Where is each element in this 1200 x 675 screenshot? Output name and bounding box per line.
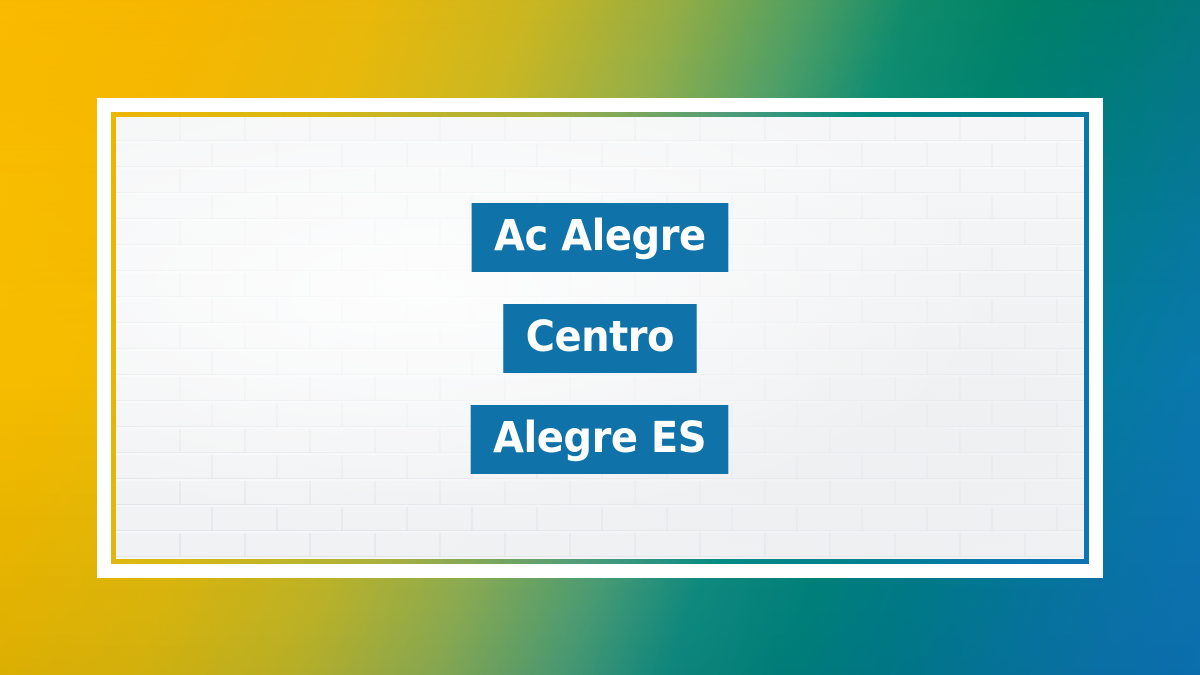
label-box-primary: Ac Alegre xyxy=(472,203,728,272)
poster-canvas: Ac Alegre Centro Alegre ES xyxy=(0,0,1200,675)
brick-wall-surface: Ac Alegre Centro Alegre ES xyxy=(116,117,1084,559)
label-box-tertiary: Alegre ES xyxy=(471,405,729,474)
panel-frame-inner-line: Ac Alegre Centro Alegre ES xyxy=(111,112,1089,564)
label-box-secondary: Centro xyxy=(503,304,696,373)
panel-frame: Ac Alegre Centro Alegre ES xyxy=(97,98,1103,578)
label-stack: Ac Alegre Centro Alegre ES xyxy=(116,117,1084,559)
